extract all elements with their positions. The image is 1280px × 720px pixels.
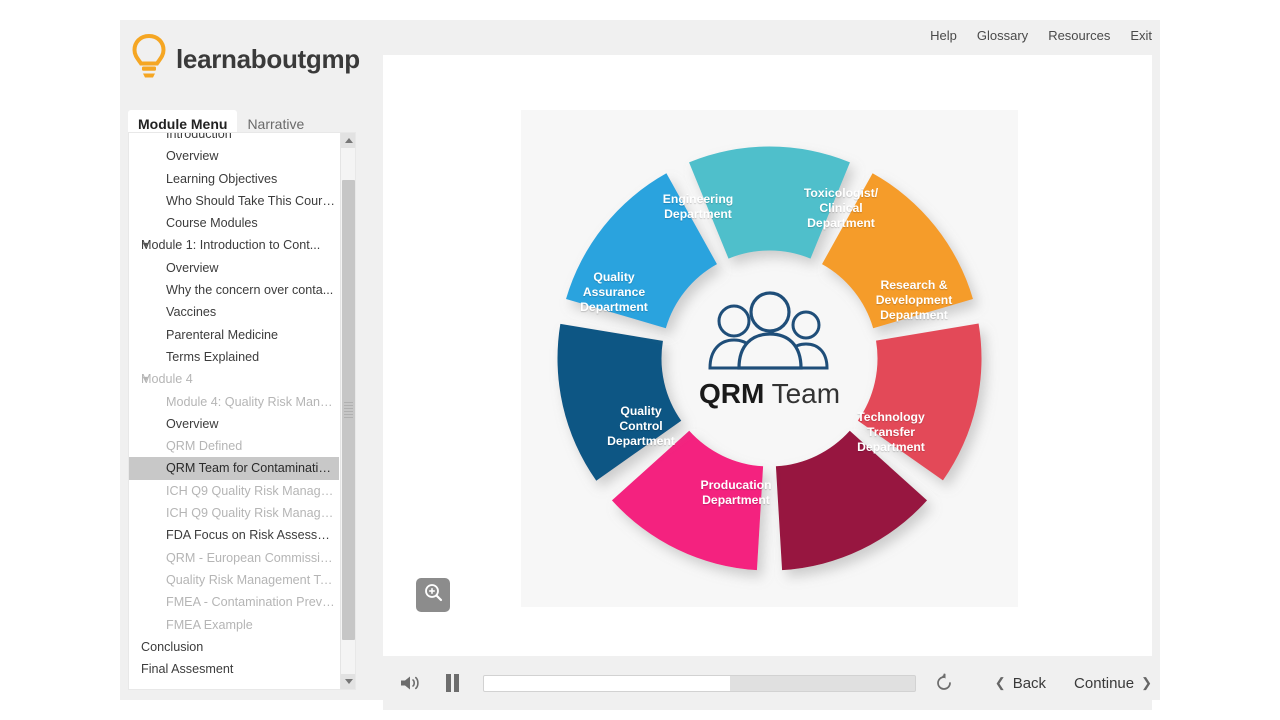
sidebar-item-label: Who Should Take This Course	[166, 194, 336, 208]
course-player-window: Help Glossary Resources Exit learnaboutg…	[120, 20, 1160, 700]
back-label: Back	[1013, 675, 1046, 692]
sidebar-item-label: Why the concern over conta...	[166, 283, 333, 297]
chevron-up-icon	[345, 138, 353, 143]
topnav-item-glossary[interactable]: Glossary	[977, 28, 1028, 43]
sidebar-item-label: Module 1: Introduction to Cont...	[141, 238, 320, 252]
sidebar-item-label: ICH Q9 Quality Risk Manage...	[166, 484, 338, 498]
wheel-segment	[566, 173, 717, 328]
center-title-light: Team	[772, 378, 840, 409]
center-title: QRM Team	[699, 378, 840, 410]
sidebar-item[interactable]: Learning Objectives	[129, 168, 339, 190]
topnav-item-exit[interactable]: Exit	[1130, 28, 1152, 43]
sidebar-item[interactable]: QRM - European Commissio...	[129, 547, 339, 569]
chevron-right-icon: ❯	[1141, 675, 1152, 691]
pause-button[interactable]	[442, 674, 463, 692]
sidebar-item-label: FMEA Example	[166, 618, 253, 632]
sidebar-item[interactable]: ▼Module 4	[129, 368, 339, 390]
sidebar-item[interactable]: FMEA - Contamination Preve...	[129, 591, 339, 613]
sidebar-item[interactable]: QRM Team for Contaminatio...	[129, 457, 339, 479]
sidebar-item[interactable]: Vaccines	[129, 301, 339, 323]
sidebar-item-label: QRM Defined	[166, 439, 242, 453]
people-group-icon	[697, 288, 843, 379]
topnav-item-resources[interactable]: Resources	[1048, 28, 1110, 43]
center-title-bold: QRM	[699, 378, 764, 409]
sidebar-item-label: Terms Explained	[166, 350, 259, 364]
sidebar-item[interactable]: Parenteral Medicine	[129, 324, 339, 346]
qrm-team-wheel-graphic: EngineeringDepartment Toxicologist/Clini…	[521, 110, 1018, 607]
sidebar-item-label: Parenteral Medicine	[166, 328, 278, 342]
wheel-segment	[822, 173, 973, 328]
chevron-down-icon[interactable]: ▼	[141, 234, 150, 256]
top-navigation: Help Glossary Resources Exit	[930, 28, 1152, 43]
playback-progress-bar[interactable]	[483, 675, 916, 692]
module-menu-list: IntroductionOverviewLearning ObjectivesW…	[129, 132, 339, 680]
slide-stage: EngineeringDepartment Toxicologist/Clini…	[383, 55, 1152, 656]
sidebar-item[interactable]: Overview	[129, 145, 339, 167]
continue-label: Continue	[1074, 675, 1134, 692]
lightbulb-icon	[132, 34, 166, 85]
sidebar-item-label: Overview	[166, 417, 218, 431]
sidebar-item-label: QRM Team for Contaminatio...	[166, 461, 336, 475]
zoom-image-button[interactable]	[416, 578, 450, 612]
chevron-left-icon: ❮	[995, 675, 1006, 691]
sidebar-item[interactable]: ICH Q9 Quality Risk Manage...	[129, 502, 339, 524]
sidebar-item[interactable]: Module 4: Quality Risk Mana...	[129, 391, 339, 413]
scroll-up-button[interactable]	[341, 133, 356, 148]
sidebar-item-label: FMEA - Contamination Preve...	[166, 595, 339, 609]
sidebar-item[interactable]: Conclusion	[129, 636, 339, 658]
sidebar-item[interactable]: Introduction	[129, 132, 339, 145]
sidebar-item-label: Learning Objectives	[166, 172, 277, 186]
sidebar-item-label: Final Assesment	[141, 662, 233, 676]
sidebar-item-label: Course Modules	[166, 216, 258, 230]
sidebar-item[interactable]: ▼Module 1: Introduction to Cont...	[129, 234, 339, 256]
sidebar-scrollbar[interactable]	[340, 133, 355, 689]
sidebar-item[interactable]: ICH Q9 Quality Risk Manage...	[129, 480, 339, 502]
continue-button[interactable]: Continue ❯	[1074, 675, 1152, 692]
sidebar-item-label: QRM - European Commissio...	[166, 551, 337, 565]
sidebar-item-label: FDA Focus on Risk Assessme...	[166, 528, 339, 542]
scrollbar-thumb[interactable]	[342, 180, 355, 640]
sidebar-item[interactable]: FMEA Example	[129, 614, 339, 636]
brand-name: learnaboutgmp	[176, 44, 360, 75]
sidebar-item-label: Module 4: Quality Risk Mana...	[166, 395, 338, 409]
sidebar-item[interactable]: Why the concern over conta...	[129, 279, 339, 301]
chevron-down-icon	[345, 679, 353, 684]
sidebar-item-label: ICH Q9 Quality Risk Manage...	[166, 506, 338, 520]
chevron-down-icon[interactable]: ▼	[141, 368, 150, 390]
replay-button[interactable]	[932, 672, 957, 694]
player-controls: ❮ Back Continue ❯	[383, 656, 1152, 710]
topnav-item-help[interactable]: Help	[930, 28, 957, 43]
slide-navigation: ❮ Back Continue ❯	[995, 675, 1152, 692]
sidebar-item-label: Quality Risk Management To...	[166, 573, 337, 587]
sidebar-item[interactable]: Course Modules	[129, 212, 339, 234]
brand-logo: learnaboutgmp	[132, 34, 360, 85]
sidebar-item[interactable]: FDA Focus on Risk Assessme...	[129, 524, 339, 546]
sidebar-item[interactable]: Overview	[129, 257, 339, 279]
sidebar-item[interactable]: Who Should Take This Course	[129, 190, 339, 212]
wheel-segment	[689, 147, 850, 259]
scrollbar-grip-icon	[344, 402, 353, 418]
sidebar-item-label: Overview	[166, 261, 218, 275]
back-button[interactable]: ❮ Back	[995, 675, 1046, 692]
sidebar-item[interactable]: Final Assesment	[129, 658, 339, 680]
sidebar-item-label: Overview	[166, 149, 218, 163]
sidebar-item[interactable]: Terms Explained	[129, 346, 339, 368]
module-menu-panel: IntroductionOverviewLearning ObjectivesW…	[128, 132, 356, 690]
slide-content: EngineeringDepartment Toxicologist/Clini…	[383, 55, 1152, 656]
sidebar-item-label: Conclusion	[141, 640, 203, 654]
sidebar-item-label: Vaccines	[166, 305, 216, 319]
sidebar-item-label: Introduction	[166, 132, 232, 141]
sidebar-item[interactable]: Overview	[129, 413, 339, 435]
scroll-down-button[interactable]	[341, 674, 356, 689]
magnify-plus-icon	[424, 583, 443, 607]
playback-progress-fill	[484, 676, 729, 691]
sidebar-item[interactable]: QRM Defined	[129, 435, 339, 457]
volume-icon[interactable]	[397, 674, 422, 692]
sidebar-item[interactable]: Quality Risk Management To...	[129, 569, 339, 591]
